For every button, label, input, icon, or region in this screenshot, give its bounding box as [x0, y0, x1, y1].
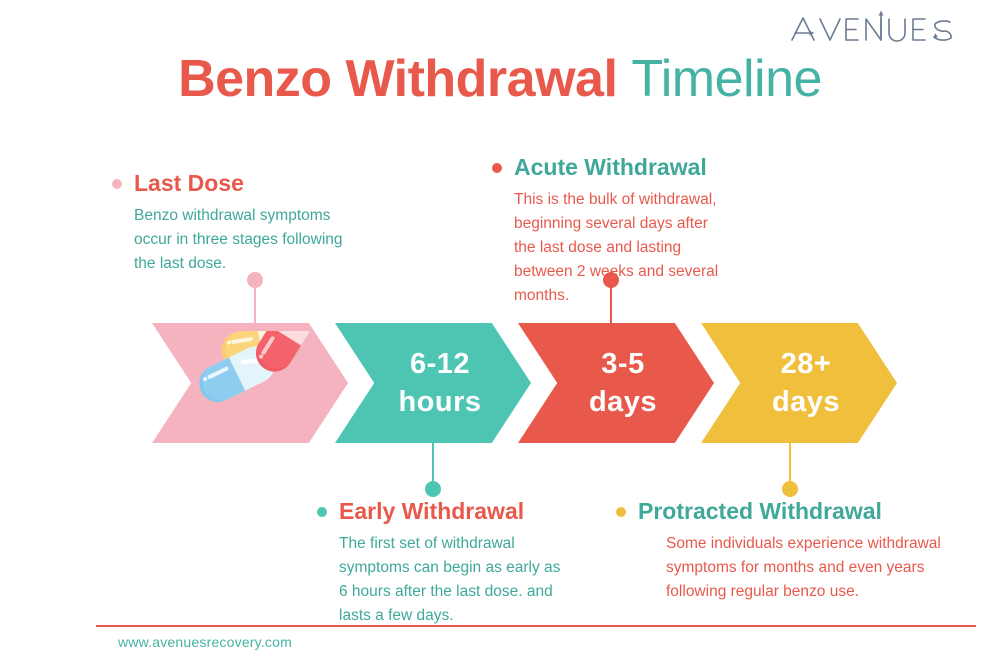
timeline-band: 6-12 hours 3-5 days 28+ days — [152, 323, 890, 443]
timeline-segment-28-days[interactable]: 28+ days — [701, 323, 897, 443]
connector-dot-early — [425, 481, 441, 497]
footer-website-url[interactable]: www.avenuesrecovery.com — [118, 634, 292, 650]
callout-protracted-body: Some individuals experience withdrawal s… — [666, 532, 946, 604]
title-part-2: Timeline — [631, 50, 822, 108]
callout-early-heading: Early Withdrawal — [317, 500, 617, 523]
timeline-segment-label: 28+ days — [772, 345, 840, 422]
callout-last-dose: Last Dose Benzo withdrawal symptoms occu… — [112, 172, 382, 276]
timeline-segment-label: 6-12 hours — [398, 345, 481, 422]
timeline-segment-last-dose[interactable] — [152, 323, 348, 443]
pills-icon — [197, 331, 315, 435]
callout-last-dose-body: Benzo withdrawal symptoms occur in three… — [134, 204, 366, 276]
bullet-dot-icon — [317, 507, 327, 517]
page-title: Benzo Withdrawal Timeline — [0, 49, 1000, 109]
connector-dot-protracted — [782, 481, 798, 497]
bullet-dot-icon — [616, 507, 626, 517]
footer-divider — [96, 625, 976, 627]
callout-acute-body: This is the bulk of withdrawal, beginnin… — [514, 188, 732, 308]
connector-dot-acute — [603, 272, 619, 288]
connector-dot-last-dose — [247, 272, 263, 288]
callout-early-withdrawal: Early Withdrawal The first set of withdr… — [317, 500, 617, 628]
callout-last-dose-heading: Last Dose — [112, 172, 382, 195]
avenues-logo — [788, 8, 978, 48]
timeline-segment-label: 3-5 days — [589, 345, 657, 422]
connector-line-acute — [610, 285, 612, 325]
connector-line-early — [432, 441, 434, 485]
callout-early-body: The first set of withdrawal symptoms can… — [339, 532, 561, 628]
timeline-segment-6-12-hours[interactable]: 6-12 hours — [335, 323, 531, 443]
timeline-segment-3-5-days[interactable]: 3-5 days — [518, 323, 714, 443]
callout-protracted-heading: Protracted Withdrawal — [616, 500, 956, 523]
callout-acute-withdrawal: Acute Withdrawal This is the bulk of wit… — [492, 156, 782, 308]
callout-acute-heading: Acute Withdrawal — [492, 156, 782, 179]
callout-protracted-withdrawal: Protracted Withdrawal Some individuals e… — [616, 500, 956, 604]
bullet-dot-icon — [112, 179, 122, 189]
bullet-dot-icon — [492, 163, 502, 173]
title-part-1: Benzo Withdrawal — [178, 50, 617, 108]
connector-line-protracted — [789, 441, 791, 485]
connector-line-last-dose — [254, 285, 256, 325]
